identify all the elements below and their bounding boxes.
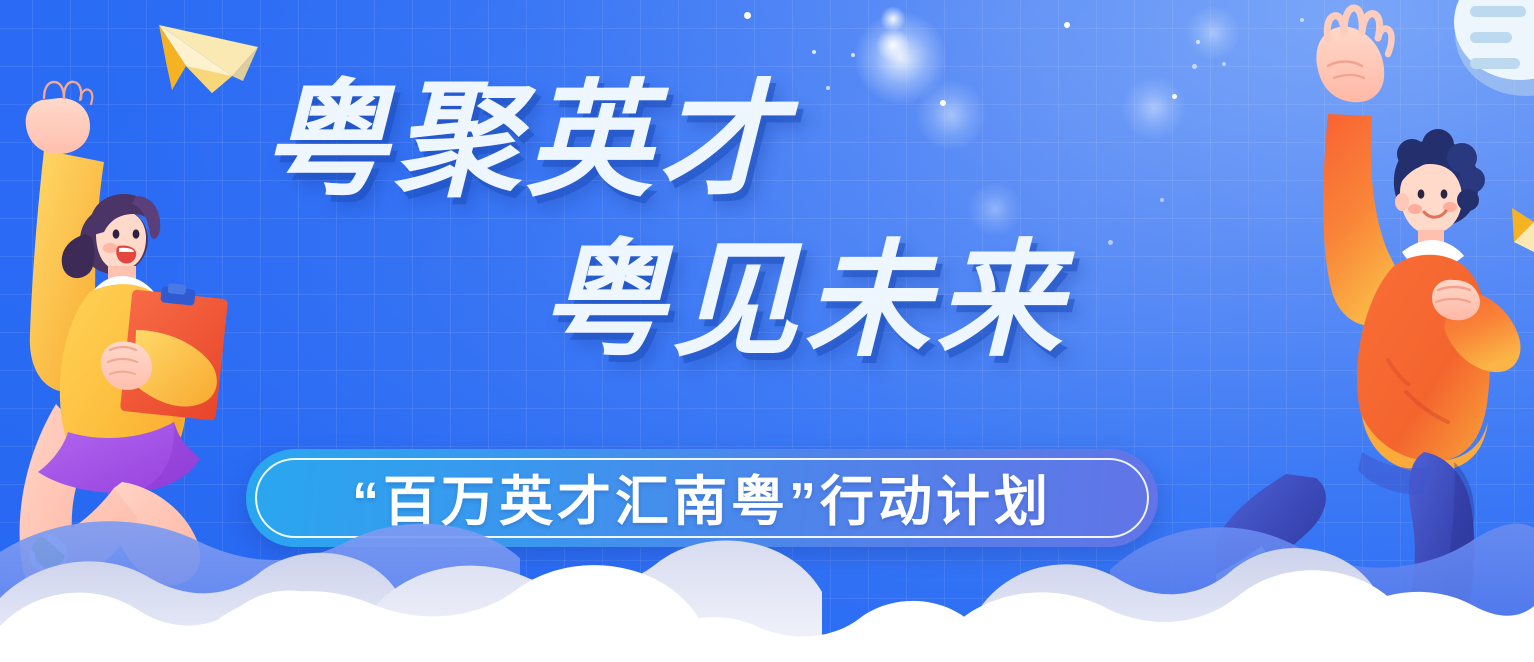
headline-block: 粤聚英才 粤见未来: [0, 78, 1180, 364]
campaign-badge[interactable]: “百万英才汇南粤”行动计划: [246, 449, 1158, 547]
headline-line-2: 粤见未来: [0, 238, 1180, 364]
headline-line-1: 粤聚英才: [0, 78, 1180, 204]
talent-campaign-banner: 粤聚英才 粤见未来 “百万英才汇南粤”行动计划: [0, 0, 1534, 662]
badge-label: “百万英才汇南粤”行动计划: [352, 457, 1052, 540]
